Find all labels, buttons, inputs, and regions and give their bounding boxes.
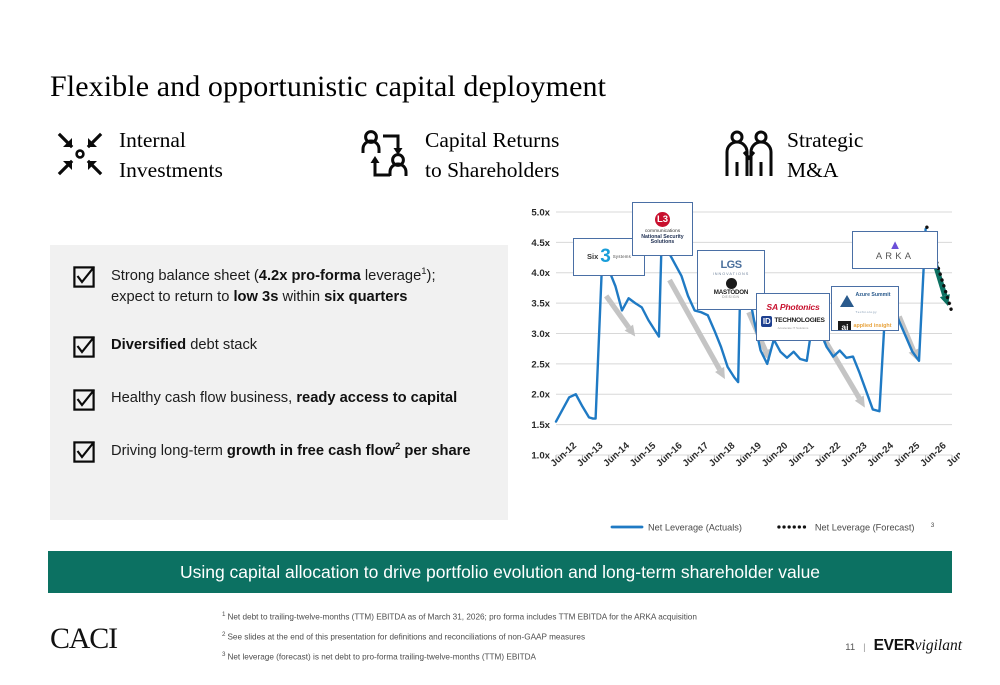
bullet-item: Diversified debt stack (73, 335, 257, 358)
bullet-text: Strong balance sheet (4.2x pro-forma lev… (111, 265, 436, 308)
summary-banner: Using capital allocation to drive portfo… (48, 551, 952, 593)
footnote-item: 1Net debt to trailing-twelve-months (TTM… (222, 611, 782, 623)
pillar-strategic-ma: Strategic M&A (722, 126, 863, 185)
y-axis-tick-label: 2.5x (531, 359, 550, 370)
footnote-marker: 1 (222, 611, 225, 618)
pillar-label-line2: M&A (787, 158, 838, 182)
handshake-people-icon (722, 128, 774, 184)
footnote-marker: 3 (222, 651, 225, 658)
checkbox-checked-icon (73, 441, 95, 463)
footer-divider: | (863, 642, 865, 653)
pillars-row: Internal Investments Ca (50, 126, 950, 196)
l3-logo-mark: L3 (655, 212, 670, 227)
y-axis-tick-label: 3.5x (531, 299, 550, 310)
legend-label: Net Leverage (Forecast) (815, 522, 915, 532)
pillar-label: Internal Investments (119, 126, 223, 185)
pillar-label-line1: Capital Returns (425, 128, 559, 152)
y-axis-tick-label: 5.0x (531, 207, 550, 218)
pillar-capital-returns: Capital Returns to Shareholders (360, 126, 559, 185)
pillar-label-line1: Internal (119, 128, 186, 152)
checkbox-checked-icon (73, 336, 95, 358)
y-axis-tick-label: 4.5x (531, 238, 550, 249)
pillar-label-line1: Strategic (787, 128, 863, 152)
checkbox-checked-icon (73, 389, 95, 411)
footnote-text: Net leverage (forecast) is net debt to p… (227, 653, 536, 662)
legend-item: Net Leverage (Actuals) (612, 522, 742, 532)
footer-right: 11 | EVERvigilant (845, 637, 962, 655)
bullet-item: Driving long-term growth in free cash fl… (73, 440, 471, 463)
footnote-text: See slides at the end of this presentati… (227, 633, 585, 642)
footnote-item: 3Net leverage (forecast) is net debt to … (222, 651, 782, 663)
legend-footnote-marker: 3 (931, 522, 935, 529)
ever-vigilant-tagline: EVERvigilant (874, 637, 962, 655)
mastodon-logo-mark (726, 278, 737, 289)
y-axis-tick-label: 2.0x (531, 390, 550, 401)
y-axis-tick-label: 4.0x (531, 268, 550, 279)
pillar-label-line2: to Shareholders (425, 158, 559, 182)
legend-label: Net Leverage (Actuals) (648, 522, 742, 532)
footnote-text: Net debt to trailing-twelve-months (TTM)… (227, 613, 696, 622)
pillar-label: Strategic M&A (787, 126, 863, 185)
azure-summit-logo-mark (840, 295, 854, 307)
y-axis-tick-label: 3.0x (531, 329, 550, 340)
footnotes: 1Net debt to trailing-twelve-months (TTM… (222, 611, 782, 671)
legend-item: Net Leverage (Forecast)3 (779, 522, 935, 532)
shrink-arrows-icon (54, 128, 106, 184)
net-leverage-chart: 1.0x1.5x2.0x2.5x3.0x3.5x4.0x4.5x5.0xJun-… (520, 200, 960, 545)
pillar-label-line2: Investments (119, 158, 223, 182)
bullet-item: Strong balance sheet (4.2x pro-forma lev… (73, 265, 436, 308)
bullet-text: Healthy cash flow business, ready access… (111, 388, 457, 409)
footnote-marker: 2 (222, 631, 225, 638)
pillar-internal-investments: Internal Investments (54, 126, 223, 185)
footnote-item: 2See slides at the end of this presentat… (222, 631, 782, 643)
y-axis-tick-label: 1.5x (531, 420, 550, 431)
annotation-azure-summit-applied-insight: Azure Summit Technology ai applied insig… (831, 286, 899, 331)
arka-logo-mark: ▲ (889, 239, 902, 250)
id-technologies-logo-mark: ID (761, 316, 772, 327)
pillar-label: Capital Returns to Shareholders (425, 126, 559, 185)
page-title: Flexible and opportunistic capital deplo… (50, 70, 606, 104)
page-number: 11 (845, 642, 855, 653)
bullet-text: Diversified debt stack (111, 335, 257, 356)
y-axis-tick-label: 1.0x (531, 450, 550, 461)
bullet-item: Healthy cash flow business, ready access… (73, 388, 457, 411)
annotation-sa-photonics-id-technologies: SA Photonics ID TECHNOLOGIES Accelerate … (756, 293, 830, 341)
applied-insight-logo-mark: ai (838, 321, 851, 331)
banner-text: Using capital allocation to drive portfo… (180, 562, 820, 583)
people-exchange-icon (360, 128, 412, 184)
annotation-l3-communications: L3 communications National Security Solu… (632, 202, 693, 256)
key-points-panel: Strong balance sheet (4.2x pro-forma lev… (50, 245, 508, 520)
bullet-text: Driving long-term growth in free cash fl… (111, 440, 471, 462)
annotation-arka: ▲ ARKA (852, 231, 938, 269)
annotation-lgs-mastodon: LGS INNOVATIONS MASTODON DESIGN (697, 250, 765, 310)
checkbox-checked-icon (73, 266, 95, 288)
caci-logo: CACI (50, 622, 117, 656)
